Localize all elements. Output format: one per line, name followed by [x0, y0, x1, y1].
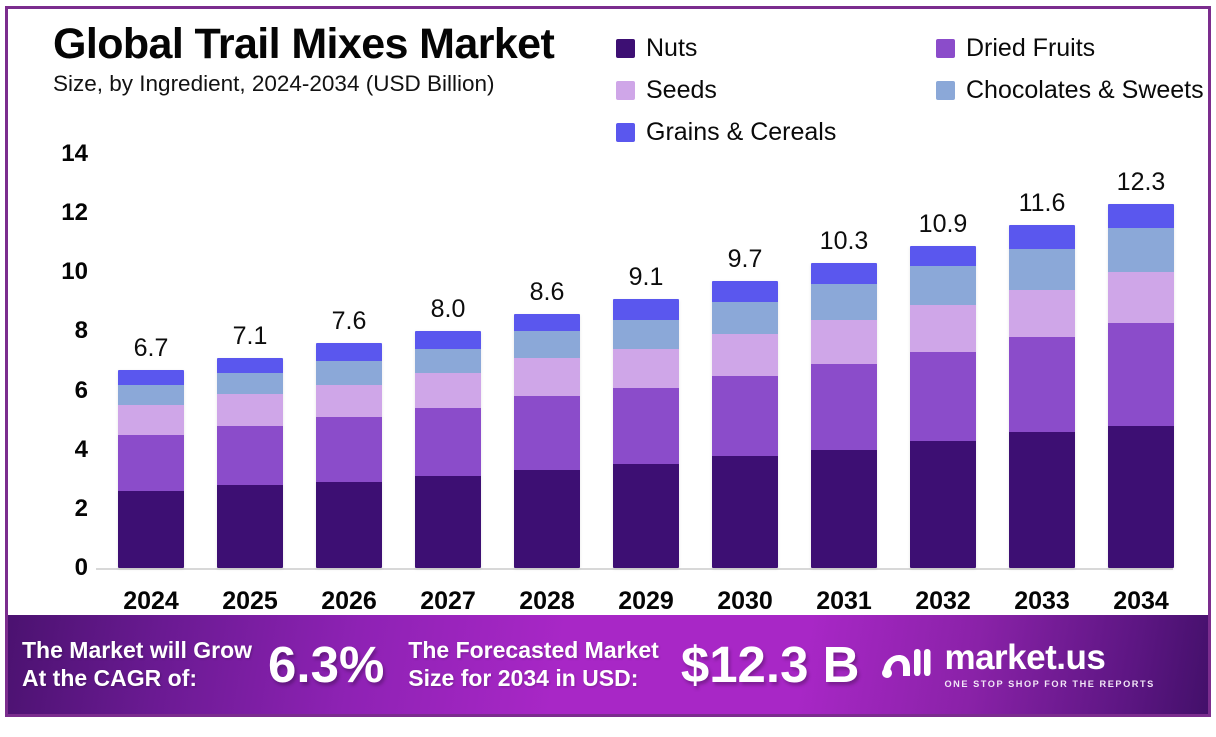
forecast-size-label-line1: The Forecasted Market — [408, 637, 659, 664]
legend-label: Chocolates & Sweets — [966, 78, 1204, 103]
bar-segment-dried-fruits[interactable] — [217, 426, 283, 485]
bar-segment-chocolates-sweets[interactable] — [316, 361, 382, 385]
bar-segment-chocolates-sweets[interactable] — [1108, 228, 1174, 272]
page-title: Global Trail Mixes Market — [53, 21, 554, 67]
bar-total-label: 11.6 — [1019, 189, 1066, 218]
x-axis-label-2025: 2025 — [222, 587, 278, 616]
bar-segment-seeds[interactable] — [316, 385, 382, 418]
brand-logo[interactable]: market.us ONE STOP SHOP FOR THE REPORTS — [881, 640, 1154, 689]
bar-segment-nuts[interactable] — [217, 485, 283, 568]
legend-item-nuts[interactable]: Nuts — [616, 27, 936, 69]
bar-total-label: 8.6 — [530, 278, 565, 307]
bar-total-label: 7.1 — [233, 322, 268, 351]
legend-item-seeds[interactable]: Seeds — [616, 69, 936, 111]
stacked-bar[interactable] — [217, 358, 283, 568]
bar-segment-dried-fruits[interactable] — [613, 388, 679, 465]
bar-group[interactable]: 7.12025 — [217, 129, 283, 619]
chart-header: Global Trail Mixes Market Size, by Ingre… — [8, 9, 1208, 129]
stacked-bar[interactable] — [415, 331, 481, 568]
cagr-label: The Market will Grow At the CAGR of: — [22, 637, 252, 691]
bar-segment-dried-fruits[interactable] — [316, 417, 382, 482]
bar-segment-nuts[interactable] — [316, 482, 382, 568]
y-axis-tick-4: 4 — [75, 436, 88, 464]
bar-segment-grains-cereals[interactable] — [217, 358, 283, 373]
bar-total-label: 12.3 — [1117, 168, 1166, 197]
cagr-label-line2: At the CAGR of: — [22, 665, 252, 692]
bar-total-label: 7.6 — [332, 307, 367, 336]
footer-banner: The Market will Grow At the CAGR of: 6.3… — [8, 615, 1208, 714]
bar-segment-chocolates-sweets[interactable] — [811, 284, 877, 319]
brand-text: market.us ONE STOP SHOP FOR THE REPORTS — [944, 640, 1154, 689]
bar-segment-nuts[interactable] — [514, 470, 580, 568]
bar-group[interactable]: 10.32031 — [811, 129, 877, 619]
legend-label: Seeds — [646, 78, 717, 103]
x-axis-label-2028: 2028 — [519, 587, 575, 616]
bar-segment-chocolates-sweets[interactable] — [415, 349, 481, 373]
bar-segment-dried-fruits[interactable] — [712, 376, 778, 456]
plot-area: 02468101214 6.720247.120257.620268.02027… — [8, 129, 1208, 619]
bar-segment-seeds[interactable] — [613, 349, 679, 387]
bar-segment-nuts[interactable] — [613, 464, 679, 567]
bar-group[interactable]: 8.02027 — [415, 129, 481, 619]
brand-name: market.us — [944, 640, 1154, 675]
bar-segment-seeds[interactable] — [910, 305, 976, 352]
stacked-bar[interactable] — [910, 246, 976, 568]
bar-group[interactable]: 12.32034 — [1108, 129, 1174, 619]
legend-swatch-icon — [616, 39, 635, 58]
bar-segment-seeds[interactable] — [217, 394, 283, 427]
legend-swatch-icon — [616, 81, 635, 100]
y-axis-tick-12: 12 — [61, 199, 88, 227]
bar-segment-seeds[interactable] — [811, 320, 877, 364]
bar-segment-dried-fruits[interactable] — [118, 435, 184, 491]
bar-segment-dried-fruits[interactable] — [1009, 337, 1075, 432]
bar-segment-nuts[interactable] — [1009, 432, 1075, 568]
bar-total-label: 9.1 — [629, 263, 664, 292]
bar-segment-grains-cereals[interactable] — [415, 331, 481, 349]
y-axis-tick-8: 8 — [75, 317, 88, 345]
legend-swatch-icon — [936, 81, 955, 100]
y-axis-tick-14: 14 — [61, 140, 88, 168]
forecast-size-value: $12.3 B — [681, 639, 860, 690]
bar-segment-grains-cereals[interactable] — [1009, 225, 1075, 249]
y-axis-tick-10: 10 — [61, 258, 88, 286]
stacked-bar[interactable] — [316, 343, 382, 568]
cagr-label-line1: The Market will Grow — [22, 637, 252, 664]
bar-segment-dried-fruits[interactable] — [514, 396, 580, 470]
bar-group[interactable]: 10.92032 — [910, 129, 976, 619]
bar-segment-grains-cereals[interactable] — [316, 343, 382, 361]
title-block: Global Trail Mixes Market Size, by Ingre… — [53, 21, 554, 97]
y-axis: 02468101214 — [8, 129, 96, 619]
y-axis-tick-2: 2 — [75, 495, 88, 523]
bar-segment-chocolates-sweets[interactable] — [1009, 249, 1075, 290]
legend-label: Nuts — [646, 36, 697, 61]
bar-segment-grains-cereals[interactable] — [613, 299, 679, 320]
bar-segment-grains-cereals[interactable] — [811, 263, 877, 284]
stacked-bar[interactable] — [613, 299, 679, 568]
bar-segment-grains-cereals[interactable] — [1108, 204, 1174, 228]
bar-total-label: 6.7 — [134, 334, 169, 363]
bar-segment-grains-cereals[interactable] — [910, 246, 976, 267]
legend-item-dried-fruits[interactable]: Dried Fruits — [936, 27, 1216, 69]
x-axis-label-2029: 2029 — [618, 587, 674, 616]
bar-segment-seeds[interactable] — [1108, 272, 1174, 322]
bar-segment-dried-fruits[interactable] — [811, 364, 877, 450]
bar-segment-chocolates-sweets[interactable] — [910, 266, 976, 304]
x-axis-label-2026: 2026 — [321, 587, 377, 616]
legend-swatch-icon — [936, 39, 955, 58]
page-subtitle: Size, by Ingredient, 2024-2034 (USD Bill… — [53, 70, 554, 97]
bar-group[interactable]: 9.12029 — [613, 129, 679, 619]
bar-segment-chocolates-sweets[interactable] — [118, 385, 184, 406]
legend-label: Dried Fruits — [966, 36, 1095, 61]
bar-total-label: 8.0 — [431, 295, 466, 324]
bar-group[interactable]: 6.72024 — [118, 129, 184, 619]
forecast-size-label-line2: Size for 2034 in USD: — [408, 665, 659, 692]
y-axis-tick-0: 0 — [75, 554, 88, 582]
infographic-root: Global Trail Mixes Market Size, by Ingre… — [0, 0, 1216, 737]
bar-segment-dried-fruits[interactable] — [415, 408, 481, 476]
bar-segment-chocolates-sweets[interactable] — [217, 373, 283, 394]
bar-segment-nuts[interactable] — [811, 450, 877, 568]
bar-segment-nuts[interactable] — [910, 441, 976, 568]
bar-segment-nuts[interactable] — [712, 456, 778, 568]
stacked-bar[interactable] — [514, 314, 580, 568]
bar-segment-seeds[interactable] — [712, 334, 778, 375]
bar-group[interactable]: 11.62033 — [1009, 129, 1075, 619]
x-axis-label-2027: 2027 — [420, 587, 476, 616]
market-us-logo-icon — [881, 642, 935, 687]
stacked-bar[interactable] — [712, 281, 778, 568]
forecast-size-label: The Forecasted Market Size for 2034 in U… — [408, 637, 659, 691]
x-axis-label-2024: 2024 — [123, 587, 179, 616]
bar-segment-grains-cereals[interactable] — [118, 370, 184, 385]
stacked-bar[interactable] — [118, 370, 184, 568]
x-axis-label-2031: 2031 — [816, 587, 872, 616]
stacked-bar[interactable] — [1108, 204, 1174, 568]
bar-segment-nuts[interactable] — [118, 491, 184, 568]
bar-group[interactable]: 7.62026 — [316, 129, 382, 619]
bar-total-label: 10.3 — [820, 227, 869, 256]
bar-segment-seeds[interactable] — [514, 358, 580, 396]
x-axis-label-2032: 2032 — [915, 587, 971, 616]
bar-total-label: 9.7 — [728, 245, 763, 274]
bar-segment-grains-cereals[interactable] — [514, 314, 580, 332]
y-axis-tick-6: 6 — [75, 377, 88, 405]
bar-series-container: 6.720247.120257.620268.020278.620289.120… — [96, 129, 1181, 619]
bar-segment-dried-fruits[interactable] — [1108, 323, 1174, 426]
brand-tagline: ONE STOP SHOP FOR THE REPORTS — [944, 679, 1154, 689]
bar-group[interactable]: 9.72030 — [712, 129, 778, 619]
stacked-bar[interactable] — [1009, 225, 1075, 568]
x-axis-label-2030: 2030 — [717, 587, 773, 616]
bar-group[interactable]: 8.62028 — [514, 129, 580, 619]
x-axis-label-2034: 2034 — [1113, 587, 1169, 616]
bar-segment-chocolates-sweets[interactable] — [712, 302, 778, 335]
bar-segment-nuts[interactable] — [1108, 426, 1174, 568]
content-frame: Global Trail Mixes Market Size, by Ingre… — [5, 6, 1211, 717]
x-axis-label-2033: 2033 — [1014, 587, 1070, 616]
cagr-value: 6.3% — [268, 639, 384, 690]
bar-segment-seeds[interactable] — [1009, 290, 1075, 337]
stacked-bar[interactable] — [811, 263, 877, 568]
bar-segment-chocolates-sweets[interactable] — [514, 331, 580, 358]
bar-segment-nuts[interactable] — [415, 476, 481, 568]
bar-segment-seeds[interactable] — [118, 405, 184, 435]
bar-segment-dried-fruits[interactable] — [910, 352, 976, 441]
bar-total-label: 10.9 — [919, 210, 968, 239]
bar-segment-chocolates-sweets[interactable] — [613, 320, 679, 350]
bar-segment-grains-cereals[interactable] — [712, 281, 778, 302]
legend-item-chocolates-sweets[interactable]: Chocolates & Sweets — [936, 69, 1216, 111]
bar-segment-seeds[interactable] — [415, 373, 481, 408]
